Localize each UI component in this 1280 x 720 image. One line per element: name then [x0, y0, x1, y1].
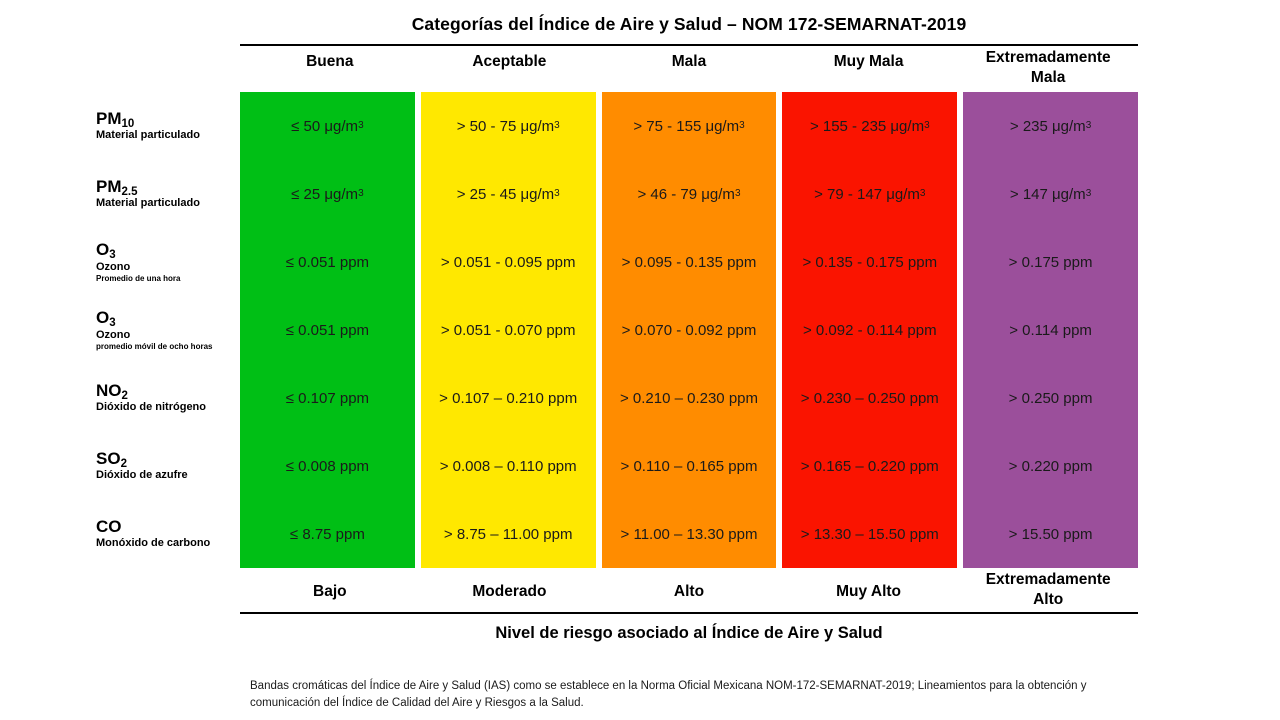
value-cell-o3-ocho-horas-extremadamente-mala: > 0.114 ppm	[963, 296, 1138, 364]
risk-level-bajo: Bajo	[240, 568, 420, 614]
pollutant-name: Material particulado	[96, 197, 236, 210]
color-band-muy-mala: > 155 - 235 μg/m3> 79 - 147 μg/m3> 0.135…	[782, 92, 957, 568]
color-band-grid: ≤ 50 μg/m3≤ 25 μg/m3≤ 0.051 ppm≤ 0.051 p…	[240, 92, 1138, 568]
pollutant-name: Material particulado	[96, 129, 236, 142]
value-cell-o3-ocho-horas-muy-mala: > 0.092 - 0.114 ppm	[782, 296, 957, 364]
bottom-divider	[240, 612, 1138, 614]
value-cell-pm2-5-mala: > 46 - 79 μg/m3	[602, 160, 777, 228]
category-header-mala: Mala	[599, 48, 779, 92]
category-header-muy-mala: Muy Mala	[779, 48, 959, 92]
pollutant-symbol: O3	[96, 241, 236, 259]
value-cell-pm10-mala: > 75 - 155 μg/m3	[602, 92, 777, 160]
pollutant-symbol: PM10	[96, 110, 236, 128]
value-cell-pm2-5-aceptable: > 25 - 45 μg/m3	[421, 160, 596, 228]
footnote: Bandas cromáticas del Índice de Aire y S…	[250, 678, 1115, 713]
risk-caption: Nivel de riesgo asociado al Índice de Ai…	[240, 624, 1138, 643]
value-cell-pm2-5-buena: ≤ 25 μg/m3	[240, 160, 415, 228]
color-band-aceptable: > 50 - 75 μg/m3> 25 - 45 μg/m3> 0.051 - …	[421, 92, 596, 568]
value-cell-pm2-5-muy-mala: > 79 - 147 μg/m3	[782, 160, 957, 228]
color-band-buena: ≤ 50 μg/m3≤ 25 μg/m3≤ 0.051 ppm≤ 0.051 p…	[240, 92, 415, 568]
value-cell-so2-extremadamente-mala: > 0.220 ppm	[963, 432, 1138, 500]
value-cell-co-extremadamente-mala: > 15.50 ppm	[963, 500, 1138, 568]
value-cell-o3-ocho-horas-aceptable: > 0.051 - 0.070 ppm	[421, 296, 596, 364]
pollutant-label-pm10-0: PM10Material particulado	[96, 110, 236, 143]
pollutant-name: Ozono	[96, 261, 236, 274]
pollutant-label-column: PM10Material particuladoPM2.5Material pa…	[96, 92, 236, 568]
pollutant-label-o3-2: O3OzonoPromedio de una hora	[96, 241, 236, 283]
value-cell-co-aceptable: > 8.75 – 11.00 ppm	[421, 500, 596, 568]
pollutant-symbol: NO2	[96, 382, 236, 400]
pollutant-name: Monóxido de carbono	[96, 537, 236, 550]
risk-level-moderado: Moderado	[420, 568, 600, 614]
category-header-extremadamente-mala: ExtremadamenteMala	[958, 48, 1138, 92]
pollutant-name: Dióxido de nitrógeno	[96, 401, 236, 414]
value-cell-pm10-extremadamente-mala: > 235 μg/m3	[963, 92, 1138, 160]
value-cell-o3-una-hora-muy-mala: > 0.135 - 0.175 ppm	[782, 228, 957, 296]
value-cell-pm2-5-extremadamente-mala: > 147 μg/m3	[963, 160, 1138, 228]
value-cell-pm10-aceptable: > 50 - 75 μg/m3	[421, 92, 596, 160]
category-header-row: BuenaAceptableMalaMuy MalaExtremadamente…	[240, 48, 1138, 92]
pollutant-note: Promedio de una hora	[96, 274, 236, 283]
color-band-mala: > 75 - 155 μg/m3> 46 - 79 μg/m3> 0.095 -…	[602, 92, 777, 568]
value-cell-no2-muy-mala: > 0.230 – 0.250 ppm	[782, 364, 957, 432]
value-cell-o3-ocho-horas-mala: > 0.070 - 0.092 ppm	[602, 296, 777, 364]
value-cell-o3-ocho-horas-buena: ≤ 0.051 ppm	[240, 296, 415, 364]
value-cell-pm10-buena: ≤ 50 μg/m3	[240, 92, 415, 160]
category-header-aceptable: Aceptable	[420, 48, 600, 92]
category-header-buena: Buena	[240, 48, 420, 92]
value-cell-co-muy-mala: > 13.30 – 15.50 ppm	[782, 500, 957, 568]
value-cell-so2-muy-mala: > 0.165 – 0.220 ppm	[782, 432, 957, 500]
air-quality-index-table: Categorías del Índice de Aire y Salud – …	[0, 0, 1280, 720]
value-cell-o3-una-hora-aceptable: > 0.051 - 0.095 ppm	[421, 228, 596, 296]
value-cell-no2-aceptable: > 0.107 – 0.210 ppm	[421, 364, 596, 432]
pollutant-label-so2-5: SO2Dióxido de azufre	[96, 450, 236, 483]
pollutant-symbol: SO2	[96, 450, 236, 468]
value-cell-co-buena: ≤ 8.75 ppm	[240, 500, 415, 568]
value-cell-so2-aceptable: > 0.008 – 0.110 ppm	[421, 432, 596, 500]
value-cell-no2-buena: ≤ 0.107 ppm	[240, 364, 415, 432]
risk-level-row: BajoModeradoAltoMuy AltoExtremadamenteAl…	[240, 568, 1138, 614]
value-cell-so2-buena: ≤ 0.008 ppm	[240, 432, 415, 500]
value-cell-o3-una-hora-extremadamente-mala: > 0.175 ppm	[963, 228, 1138, 296]
pollutant-label-o3-3: O3Ozonopromedio móvil de ocho horas	[96, 309, 236, 351]
pollutant-name: Ozono	[96, 329, 236, 342]
page-title: Categorías del Índice de Aire y Salud – …	[240, 14, 1138, 35]
pollutant-symbol: CO	[96, 518, 236, 536]
value-cell-co-mala: > 11.00 – 13.30 ppm	[602, 500, 777, 568]
value-cell-o3-una-hora-mala: > 0.095 - 0.135 ppm	[602, 228, 777, 296]
pollutant-name: Dióxido de azufre	[96, 469, 236, 482]
pollutant-note: promedio móvil de ocho horas	[96, 342, 236, 351]
pollutant-label-co-6: COMonóxido de carbono	[96, 518, 236, 551]
value-cell-no2-mala: > 0.210 – 0.230 ppm	[602, 364, 777, 432]
pollutant-label-pm2-5-1: PM2.5Material particulado	[96, 178, 236, 211]
risk-level-alto: Alto	[599, 568, 779, 614]
top-divider	[240, 44, 1138, 46]
value-cell-no2-extremadamente-mala: > 0.250 ppm	[963, 364, 1138, 432]
value-cell-o3-una-hora-buena: ≤ 0.051 ppm	[240, 228, 415, 296]
color-band-extremadamente-mala: > 235 μg/m3> 147 μg/m3> 0.175 ppm> 0.114…	[963, 92, 1138, 568]
value-cell-so2-mala: > 0.110 – 0.165 ppm	[602, 432, 777, 500]
pollutant-symbol: O3	[96, 309, 236, 327]
pollutant-label-no2-4: NO2Dióxido de nitrógeno	[96, 382, 236, 415]
risk-level-muy-alto: Muy Alto	[779, 568, 959, 614]
value-cell-pm10-muy-mala: > 155 - 235 μg/m3	[782, 92, 957, 160]
pollutant-symbol: PM2.5	[96, 178, 236, 196]
risk-level-extremadamente-alto: ExtremadamenteAlto	[958, 568, 1138, 614]
